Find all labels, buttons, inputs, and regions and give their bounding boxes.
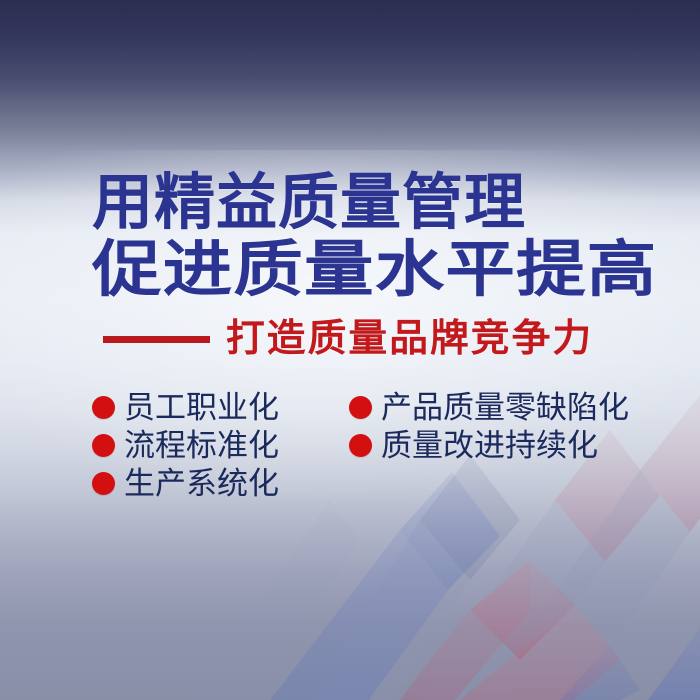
bullet-label: 质量改进持续化	[381, 430, 598, 461]
list-item: 质量改进持续化	[349, 426, 629, 464]
bullet-lists: 员工职业化 流程标准化 生产系统化 产品质量零缺陷化 质量改进持续化	[92, 388, 629, 502]
list-item: 产品质量零缺陷化	[349, 388, 629, 426]
subtitle-row: 打造质量品牌竞争力	[103, 320, 586, 358]
page-title: 用精益质量管理 促进质量水平提高	[92, 172, 588, 300]
list-item: 流程标准化	[92, 426, 310, 464]
bullet-dot-icon	[349, 434, 372, 457]
headline-line-2: 促进质量水平提高	[92, 239, 657, 300]
bullet-dot-icon	[349, 396, 372, 419]
subtitle-text: 打造质量品牌竞争力	[226, 320, 593, 358]
bullet-label: 生产系统化	[124, 468, 310, 499]
list-item: 员工职业化	[92, 388, 310, 426]
subtitle-rule	[103, 336, 210, 343]
bullet-label: 产品质量零缺陷化	[381, 392, 629, 423]
bullet-label: 流程标准化	[124, 430, 310, 461]
bullet-dot-icon	[92, 434, 115, 457]
bullet-column-left: 员工职业化 流程标准化 生产系统化	[92, 388, 310, 502]
bullet-dot-icon	[92, 396, 115, 419]
headline-line-1: 用精益质量管理	[92, 172, 588, 233]
list-item: 生产系统化	[92, 464, 310, 502]
bullet-dot-icon	[92, 472, 115, 495]
bullet-label: 员工职业化	[124, 392, 310, 423]
bullet-column-right: 产品质量零缺陷化 质量改进持续化	[349, 388, 629, 464]
poster-canvas: 用精益质量管理 促进质量水平提高 打造质量品牌竞争力 员工职业化 流程标准化 生…	[0, 0, 700, 700]
